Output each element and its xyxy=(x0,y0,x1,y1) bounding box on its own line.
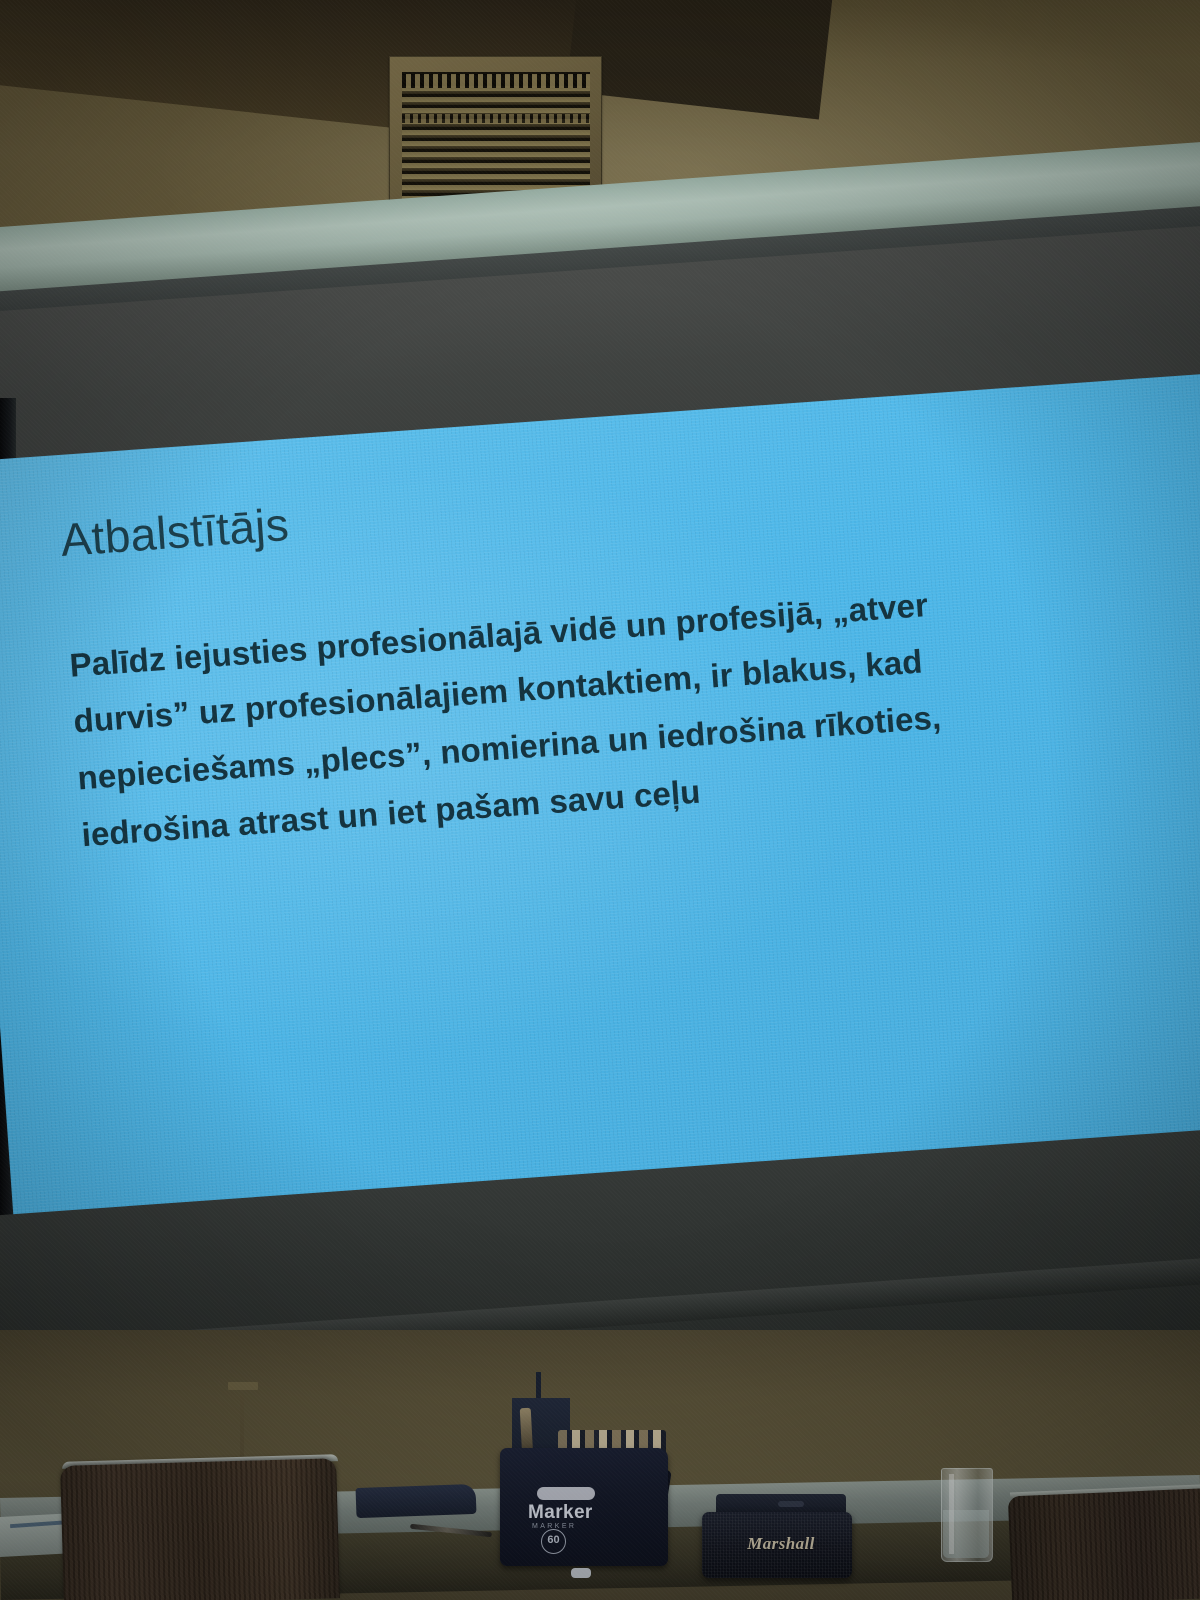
marker-loose-cap xyxy=(571,1568,591,1578)
chair-right-wood-grain xyxy=(1008,1488,1200,1600)
speaker-brand-label: Marshall xyxy=(736,1534,826,1554)
speaker-knob xyxy=(778,1501,804,1507)
marker-count-badge: 60 xyxy=(541,1529,566,1554)
conference-room-photo: Atbalstītājs Palīdz iejusties profesionā… xyxy=(0,0,1200,1600)
marker-sub-label: MARKER xyxy=(532,1523,632,1530)
projected-slide: Atbalstītājs Palīdz iejusties profesionā… xyxy=(0,370,1200,1260)
navy-folder xyxy=(356,1484,477,1518)
glass-highlight xyxy=(949,1474,954,1554)
wall-hook-bracket xyxy=(228,1382,258,1390)
chair-left-wood-grain xyxy=(60,1458,340,1600)
wall-hook-stem xyxy=(240,1390,244,1464)
marker-brand-label: Marker xyxy=(528,1502,638,1524)
marker-logo-pill xyxy=(537,1487,595,1500)
